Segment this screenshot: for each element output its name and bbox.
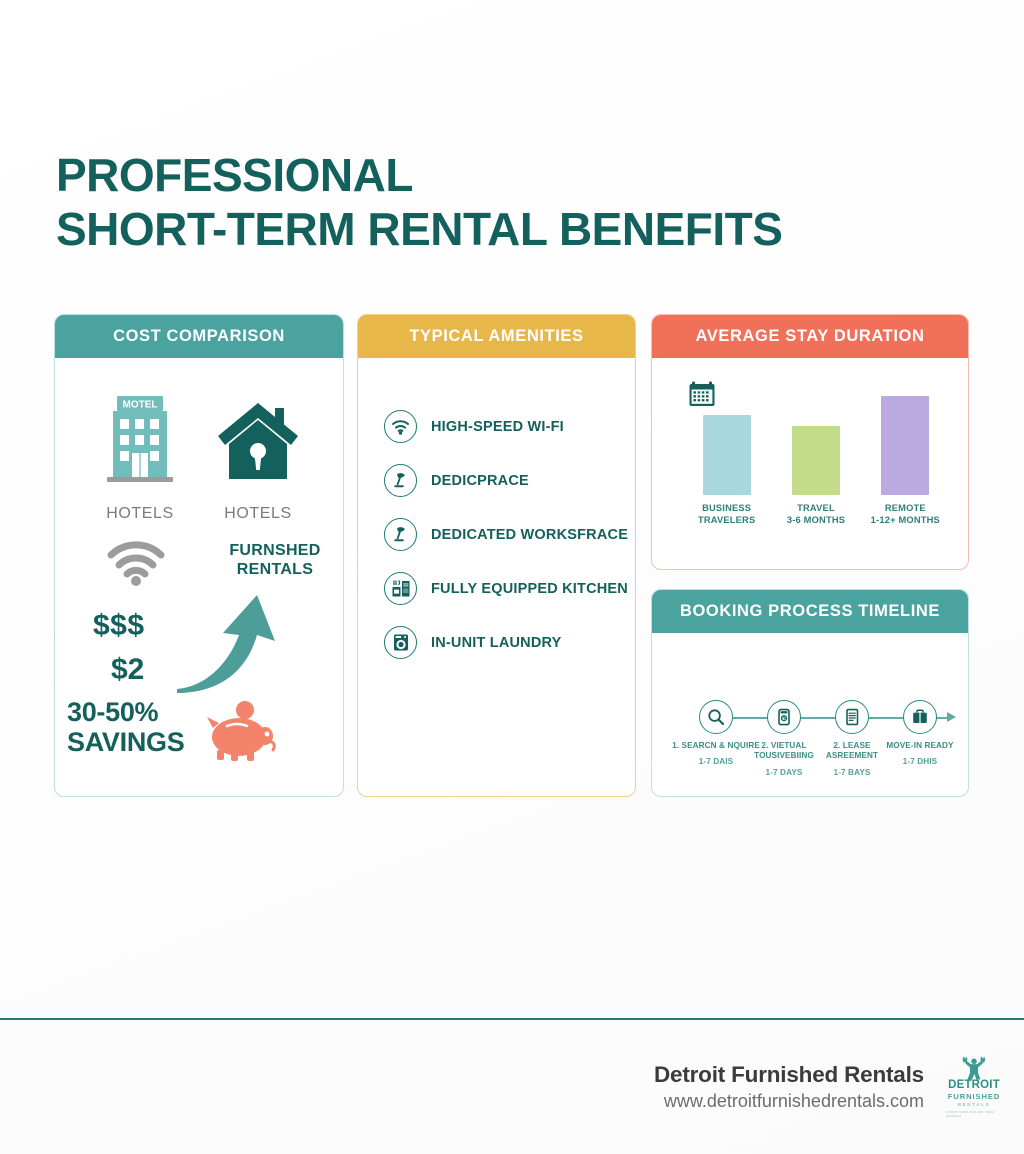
card-stay-header: AVERAGE STAY DURATION	[652, 315, 968, 358]
bar-label: REMOTE 1-12+ MONTHS	[871, 502, 940, 526]
washing-machine-icon	[384, 626, 417, 659]
list-item: FULLY EQUIPPED KITCHEN	[384, 572, 635, 605]
card-cost-body: MOTEL HOTELS	[55, 358, 343, 781]
timeline-step-days: 1-7 BAYS	[806, 768, 898, 777]
bar-label-line-1: REMOTE	[885, 503, 926, 513]
desk-lamp-icon	[384, 464, 417, 497]
savings-text: 30-50% SAVINGS	[67, 697, 184, 757]
amenity-label: DEDICATED WORKSFRACE	[431, 527, 628, 543]
footer: Detroit Furnished Rentals www.detroitfur…	[654, 1056, 1002, 1118]
amenity-label: FULLY EQUIPPED KITCHEN	[431, 581, 628, 597]
cost-col-hotel: MOTEL HOTELS	[85, 394, 195, 523]
footer-divider	[0, 1018, 1024, 1020]
bar-label: BUSINESS TRAVELERS	[698, 502, 755, 526]
kitchen-icon	[384, 572, 417, 605]
savings-line-2: SAVINGS	[67, 727, 184, 757]
card-typical-amenities: TYPICAL AMENITIES HIGH-S	[357, 314, 636, 797]
desk-lamp-icon	[384, 518, 417, 551]
bar-group-0: BUSINESS TRAVELERS	[689, 396, 765, 526]
bar-label-line-2: TRAVELERS	[698, 515, 755, 525]
amenities-list: HIGH-SPEED WI-FI DEDICPRACE	[358, 358, 635, 659]
cost-label-hotel: HOTELS	[85, 505, 195, 523]
phone-tour-icon	[767, 700, 801, 734]
furnished-rentals-label: FURNSHED RENTALS	[215, 541, 335, 579]
bar-label-line-1: BUSINESS	[702, 503, 751, 513]
savings-line-1: 30-50%	[67, 697, 158, 727]
card-booking-process-timeline: BOOKING PROCESS TIMELINE 1. SEARCN & NQU…	[651, 589, 969, 797]
title-line-2: SHORT-TERM RENTAL BENEFITS	[56, 202, 782, 256]
title-line-1: PROFESSIONAL	[56, 148, 782, 202]
piggy-bank-icon	[203, 701, 279, 763]
logo-line-3: RENTALS	[958, 1102, 991, 1108]
timeline-step-label: MOVE-IN READY	[874, 741, 966, 751]
list-item: DEDICATED WORKSFRACE	[384, 518, 635, 551]
bar	[792, 426, 840, 494]
furnished-line-2: RENTALS	[237, 561, 313, 578]
price-hotel: $$$	[93, 609, 145, 643]
card-booking-body: 1. SEARCN & NQUIRE 1-7 DAIS 2. VIETUAL T…	[652, 633, 968, 797]
list-item: DEDICPRACE	[384, 464, 635, 497]
wifi-icon	[105, 539, 167, 587]
cost-stats-area: $$$ $2 30-50% SAVINGS FURNSHED RENTALS	[55, 531, 343, 781]
card-stay-body: BUSINESS TRAVELERS TRAVEL 3-6 MONTHS REM…	[652, 358, 968, 570]
brand-url[interactable]: www.detroitfurnishedrentals.com	[654, 1091, 924, 1112]
bar	[703, 415, 751, 495]
bar-label-line-2: 1-12+ MONTHS	[871, 515, 940, 525]
cost-col-rental: HOTELS	[203, 394, 313, 523]
amenity-label: DEDICPRACE	[431, 473, 529, 489]
infographic-page: PROFESSIONAL SHORT-TERM RENTAL BENEFITS …	[0, 0, 1024, 1154]
logo-line-4: SHORT TERM AND MID TERM RENTALS	[946, 1110, 1002, 1118]
magnifier-icon	[699, 700, 733, 734]
list-item: IN-UNIT LAUNDRY	[384, 626, 635, 659]
card-cost-comparison: COST COMPARISON MOTEL	[54, 314, 344, 797]
bar-label: TRAVEL 3-6 MONTHS	[787, 502, 845, 526]
motel-building-icon: MOTEL	[101, 394, 179, 486]
svg-text:MOTEL: MOTEL	[123, 400, 158, 411]
card-amenities-body: HIGH-SPEED WI-FI DEDICPRACE	[358, 358, 635, 659]
curved-up-arrow-icon	[175, 589, 285, 694]
suitcase-icon	[903, 700, 937, 734]
card-cost-header: COST COMPARISON	[55, 315, 343, 358]
bar	[881, 396, 929, 495]
page-title: PROFESSIONAL SHORT-TERM RENTAL BENEFITS	[56, 148, 782, 257]
timeline: 1. SEARCN & NQUIRE 1-7 DAIS 2. VIETUAL T…	[670, 685, 958, 795]
timeline-step-days: 1-7 DHIS	[874, 757, 966, 766]
bar-label-line-2: 3-6 MONTHS	[787, 515, 845, 525]
card-amenities-header: TYPICAL AMENITIES	[358, 315, 635, 358]
card-booking-header: BOOKING PROCESS TIMELINE	[652, 590, 968, 633]
bar-group-1: TRAVEL 3-6 MONTHS	[778, 396, 854, 526]
logo-line-1: DETROIT	[948, 1080, 1000, 1092]
cost-icon-row: MOTEL HOTELS	[55, 358, 343, 523]
house-keyhole-icon	[215, 394, 301, 486]
price-rental: $2	[111, 653, 144, 687]
bar-label-line-1: TRAVEL	[797, 503, 835, 513]
amenity-label: HIGH-SPEED WI-FI	[431, 419, 564, 435]
logo-line-2: FURNISHED	[948, 1092, 1000, 1102]
timeline-step-4: MOVE-IN READY 1-7 DHIS	[874, 685, 966, 766]
cost-label-rental: HOTELS	[203, 505, 313, 523]
stay-duration-bar-chart: BUSINESS TRAVELERS TRAVEL 3-6 MONTHS REM…	[682, 396, 950, 526]
card-average-stay-duration: AVERAGE STAY DURATION	[651, 314, 969, 570]
list-item: HIGH-SPEED WI-FI	[384, 410, 635, 443]
spirit-of-detroit-figure-icon	[952, 1056, 996, 1080]
brand-logo: DETROIT FURNISHED RENTALS SHORT TERM AND…	[946, 1056, 1002, 1118]
document-icon	[835, 700, 869, 734]
brand-name: Detroit Furnished Rentals	[654, 1062, 924, 1088]
bar-group-2: REMOTE 1-12+ MONTHS	[867, 396, 943, 526]
wifi-icon	[384, 410, 417, 443]
amenity-label: IN-UNIT LAUNDRY	[431, 635, 562, 651]
footer-text: Detroit Furnished Rentals www.detroitfur…	[654, 1062, 924, 1112]
furnished-line-1: FURNSHED	[229, 542, 320, 559]
